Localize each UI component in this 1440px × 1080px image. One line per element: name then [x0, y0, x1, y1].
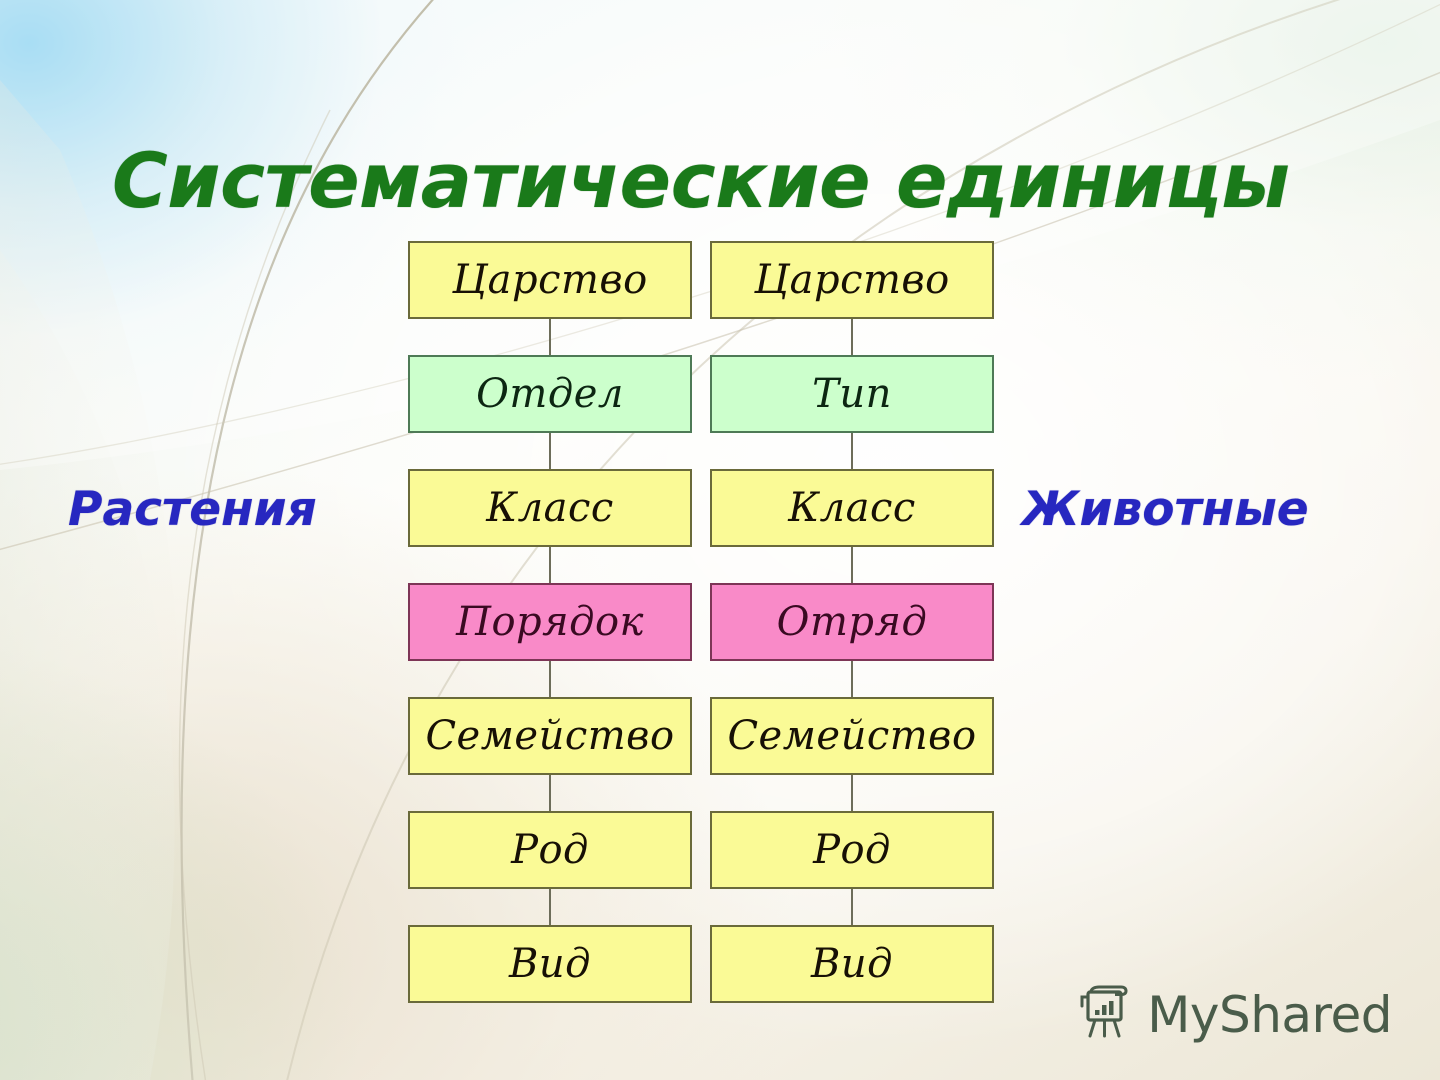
rank-row: Порядок Отряд [408, 583, 994, 661]
connector-line [549, 547, 551, 583]
rank-label: Класс [788, 486, 916, 530]
rank-label: Отдел [476, 372, 624, 416]
rank-label: Порядок [456, 600, 644, 644]
connector-line [851, 319, 853, 355]
connector-line [851, 433, 853, 469]
rank-label: Царство [452, 258, 648, 302]
connector-line [851, 547, 853, 583]
rank-label: Царство [754, 258, 950, 302]
rank-box-plants-2[interactable]: Класс [408, 469, 692, 547]
connector-line [549, 319, 551, 355]
connector-line [851, 775, 853, 811]
rank-label: Вид [811, 942, 893, 986]
connector-line [549, 661, 551, 697]
presentation-board-icon [1075, 983, 1135, 1046]
rank-row: Царство Царство [408, 241, 994, 319]
slide-title: Систематические единицы [112, 138, 1342, 224]
column-label-animals: Животные [1022, 483, 1309, 537]
rank-box-plants-5[interactable]: Род [408, 811, 692, 889]
myshared-logo[interactable]: MyShared [1075, 983, 1392, 1046]
connector-line [549, 775, 551, 811]
rank-box-plants-4[interactable]: Семейство [408, 697, 692, 775]
taxonomy-hierarchy-diagram: Царство Царство Отдел Тип Класс [408, 241, 994, 1003]
rank-box-plants-3[interactable]: Порядок [408, 583, 692, 661]
slide-canvas: Систематические единицы Растения Животны… [0, 0, 1440, 1080]
rank-box-plants-0[interactable]: Царство [408, 241, 692, 319]
rank-box-animals-1[interactable]: Тип [710, 355, 994, 433]
rank-box-animals-4[interactable]: Семейство [710, 697, 994, 775]
rank-row: Род Род [408, 811, 994, 889]
rank-box-plants-1[interactable]: Отдел [408, 355, 692, 433]
rank-row: Отдел Тип [408, 355, 994, 433]
rank-label: Род [511, 828, 589, 872]
connector-line [549, 889, 551, 925]
rank-box-animals-6[interactable]: Вид [710, 925, 994, 1003]
rank-label: Вид [509, 942, 591, 986]
rank-label: Семейство [425, 714, 674, 758]
rank-label: Семейство [727, 714, 976, 758]
rank-box-animals-3[interactable]: Отряд [710, 583, 994, 661]
column-label-plants: Растения [68, 483, 317, 537]
connector-line [549, 433, 551, 469]
myshared-logo-text: MyShared [1147, 988, 1392, 1042]
rank-label: Отряд [777, 600, 928, 644]
connector-line [851, 889, 853, 925]
rank-label: Род [813, 828, 891, 872]
rank-box-animals-0[interactable]: Царство [710, 241, 994, 319]
rank-box-animals-2[interactable]: Класс [710, 469, 994, 547]
rank-row: Вид Вид [408, 925, 994, 1003]
rank-box-animals-5[interactable]: Род [710, 811, 994, 889]
connector-line [851, 661, 853, 697]
rank-label: Тип [812, 372, 892, 416]
rank-box-plants-6[interactable]: Вид [408, 925, 692, 1003]
rank-row: Класс Класс [408, 469, 994, 547]
rank-label: Класс [486, 486, 614, 530]
rank-row: Семейство Семейство [408, 697, 994, 775]
